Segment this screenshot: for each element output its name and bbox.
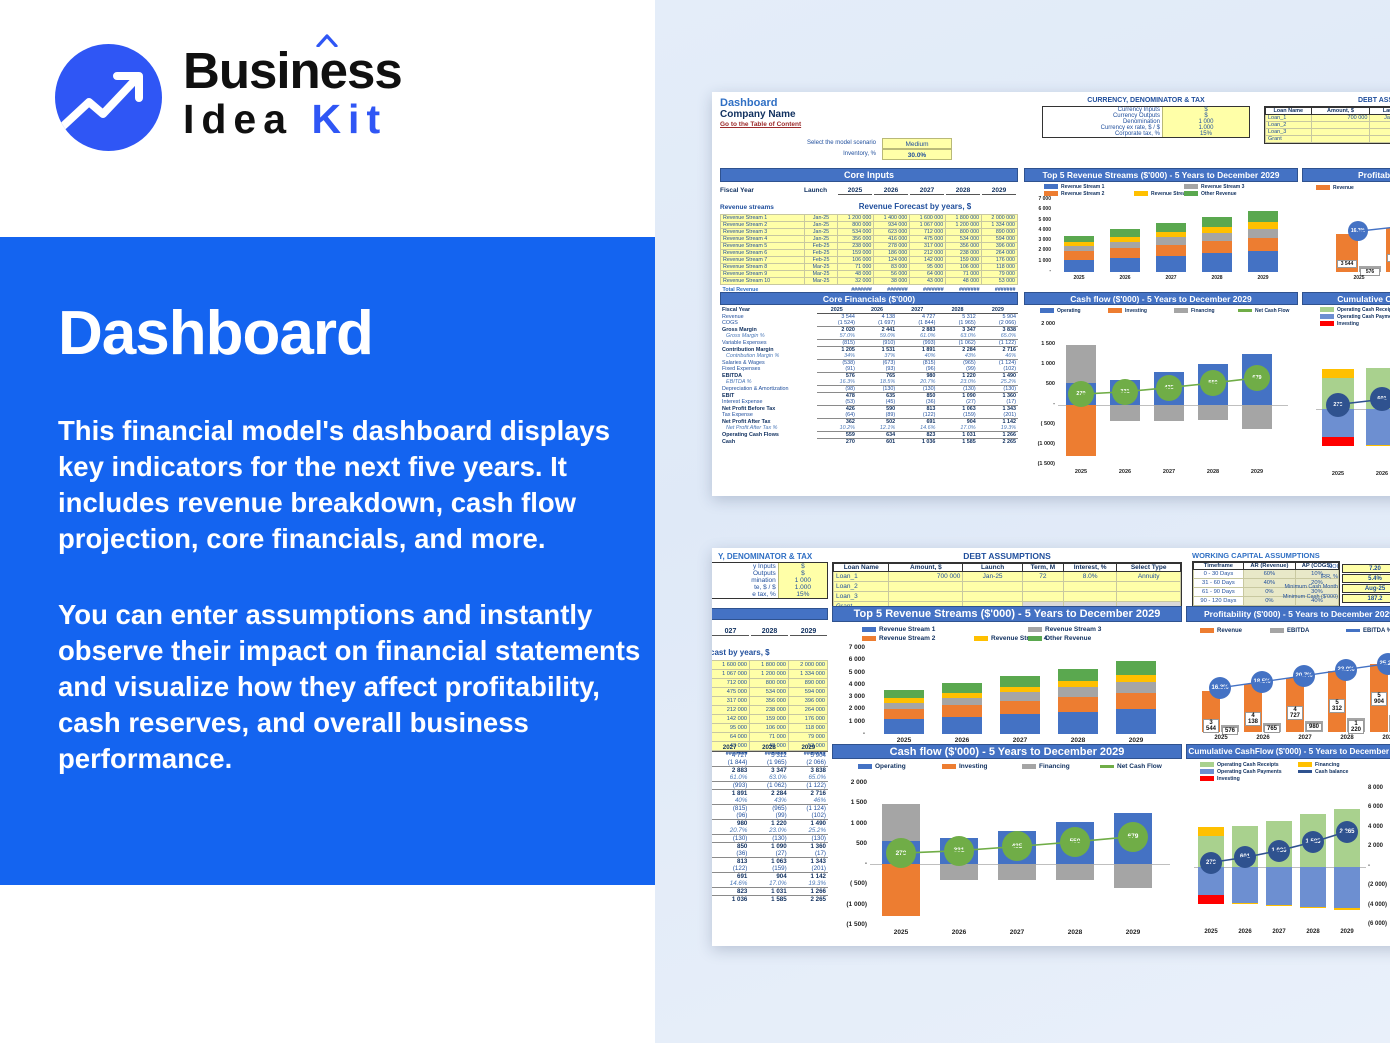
currency-row-value[interactable]: $ bbox=[778, 563, 827, 570]
stream-launch[interactable]: Feb-25 bbox=[804, 250, 838, 257]
bar-segment bbox=[884, 690, 924, 698]
stream-name[interactable]: Revenue Stream 1 bbox=[721, 215, 805, 222]
currency-row[interactable]: mination1 000 bbox=[712, 577, 827, 584]
stream-value[interactable]: 56 000 bbox=[874, 271, 910, 278]
stream-name[interactable]: Revenue Stream 4 bbox=[721, 236, 805, 243]
stream-launch[interactable]: Jan-25 bbox=[804, 222, 838, 229]
bar-operating-payments bbox=[1232, 867, 1258, 903]
x-axis-label: 2026 bbox=[1104, 275, 1146, 281]
stream-value[interactable]: 356 000 bbox=[838, 236, 874, 243]
revenue-stream-row[interactable]: Revenue Stream 8Mar-2571 00083 00095 000… bbox=[721, 264, 1018, 271]
debt-cell[interactable] bbox=[1370, 129, 1390, 136]
stream-value[interactable]: 176 000 bbox=[982, 257, 1018, 264]
debt-cell[interactable] bbox=[1063, 582, 1116, 592]
cf-row-value: 19.3% bbox=[789, 880, 828, 888]
dashboard-screenshot-bottom[interactable]: Y, DENOMINATOR & TAX y Inputs$Outputs$mi… bbox=[712, 548, 1390, 946]
stream-name[interactable]: Revenue Stream 5 bbox=[721, 243, 805, 250]
currency-row[interactable]: Outputs$ bbox=[712, 570, 827, 577]
stream-value[interactable]: 124 000 bbox=[874, 257, 910, 264]
chart-cash-flow-b: OperatingInvestingFinancingNet Cash Flow… bbox=[832, 759, 1182, 944]
stream-value[interactable]: 475 000 bbox=[910, 236, 946, 243]
stream-value[interactable]: 106 000 bbox=[750, 724, 789, 733]
revenue-stream-row-b[interactable]: 95 000106 000118 000 bbox=[712, 724, 828, 733]
bar-segment bbox=[884, 719, 924, 734]
debt-cell[interactable] bbox=[1022, 592, 1063, 602]
stream-value[interactable]: 238 000 bbox=[750, 706, 789, 715]
debt-cell[interactable]: Loan_2 bbox=[834, 582, 889, 592]
stream-value[interactable]: 79 000 bbox=[789, 733, 828, 742]
revenue-stream-row[interactable]: Revenue Stream 1Jan-251 200 0001 400 000… bbox=[721, 215, 1018, 222]
chart-legend-item: Revenue bbox=[1316, 185, 1354, 191]
bar-operating-payments bbox=[1266, 867, 1292, 905]
stream-name[interactable]: Revenue Stream 6 bbox=[721, 250, 805, 257]
stream-value[interactable]: 475 000 bbox=[712, 688, 750, 697]
stream-name[interactable]: Revenue Stream 2 bbox=[721, 222, 805, 229]
cf-row: (122)(159)(201) bbox=[712, 865, 828, 873]
debt-header-cell: Select Type bbox=[1117, 564, 1181, 572]
revenue-stream-row-b[interactable]: 317 000356 000396 000 bbox=[712, 697, 828, 706]
stream-value[interactable]: 53 000 bbox=[982, 278, 1018, 285]
stream-value[interactable]: 1 400 000 bbox=[874, 215, 910, 222]
chart-legend-item: Operating Cash Receipts bbox=[1320, 307, 1390, 313]
stream-value[interactable]: 800 000 bbox=[750, 679, 789, 688]
x-axis-label: 2026 bbox=[1240, 735, 1286, 741]
stream-value[interactable]: 800 000 bbox=[946, 229, 982, 236]
stream-launch[interactable]: Feb-25 bbox=[804, 257, 838, 264]
debt-cell[interactable]: Jan-25 bbox=[1370, 115, 1390, 122]
wc-cell[interactable]: 61 - 90 Days bbox=[1194, 588, 1244, 597]
bar-segment bbox=[1202, 253, 1232, 272]
chart-legend-item: Revenue Stream 3 bbox=[1184, 184, 1244, 190]
currency-row-value[interactable]: $ bbox=[778, 570, 827, 577]
revenue-stream-row[interactable]: Revenue Stream 10Mar-2532 00038 00043 00… bbox=[721, 278, 1018, 285]
currency-rows: Currency Inputs$Currency Outputs$Denomin… bbox=[1043, 107, 1249, 137]
x-axis-label: 2027 bbox=[994, 737, 1046, 744]
debt-cell[interactable]: Loan_3 bbox=[1266, 129, 1312, 136]
cf-row-value: 63.0% bbox=[749, 774, 788, 782]
bubble-ebitda-pct: 16.3% bbox=[1348, 221, 1368, 241]
stream-value[interactable]: 176 000 bbox=[789, 715, 828, 724]
stream-value[interactable]: 159 000 bbox=[838, 250, 874, 257]
legend-swatch bbox=[942, 764, 956, 769]
revenue-stream-row[interactable]: Revenue Stream 5Feb-25238 000278 000317 … bbox=[721, 243, 1018, 250]
stream-value[interactable]: 534 000 bbox=[838, 229, 874, 236]
revenue-stream-row-b[interactable]: 142 000159 000176 000 bbox=[712, 715, 828, 724]
y-axis-tick: 6 000 bbox=[832, 656, 865, 663]
debt-cell[interactable]: Loan_3 bbox=[834, 592, 889, 602]
wc-row[interactable]: 0 - 30 Days60%10% bbox=[1194, 570, 1339, 579]
revenue-stream-row-b[interactable]: 1 600 0001 800 0002 000 000 bbox=[712, 661, 828, 670]
cf-year: 2028 bbox=[749, 744, 788, 752]
inventory-input[interactable]: 30.0% bbox=[882, 149, 952, 160]
fiscal-year-label-inputs: Fiscal Year bbox=[720, 187, 754, 194]
stream-value[interactable]: 1 334 000 bbox=[982, 222, 1018, 229]
chart-title-cumulative-b: Cumulative CashFlow ($'000) - 5 Years to… bbox=[1186, 744, 1390, 759]
stream-value[interactable]: 212 000 bbox=[910, 250, 946, 257]
legend-swatch bbox=[862, 636, 876, 641]
stream-value[interactable]: 2 000 000 bbox=[982, 215, 1018, 222]
stream-value[interactable]: 1 600 000 bbox=[712, 661, 750, 670]
bar-financing bbox=[1056, 864, 1094, 880]
stream-value[interactable]: 1 200 000 bbox=[750, 670, 789, 679]
wc-cell[interactable]: 31 - 60 Days bbox=[1194, 579, 1244, 588]
bar-segment bbox=[1248, 222, 1278, 228]
debt-cell[interactable]: 8.0% bbox=[1063, 572, 1116, 582]
cf-row-value: 1 220 bbox=[749, 820, 788, 828]
stream-value[interactable]: 890 000 bbox=[982, 229, 1018, 236]
debt-cell[interactable] bbox=[1311, 136, 1370, 143]
stream-value[interactable]: 38 000 bbox=[874, 278, 910, 285]
chart-legend-item: Financing bbox=[1298, 762, 1340, 768]
stream-value[interactable]: 534 000 bbox=[750, 688, 789, 697]
x-axis-label: 2027 bbox=[1282, 735, 1328, 741]
stream-name[interactable]: Revenue Stream 10 bbox=[721, 278, 805, 285]
legend-swatch bbox=[1108, 308, 1122, 313]
revenue-stream-row-b[interactable]: 1 067 0001 200 0001 334 000 bbox=[712, 670, 828, 679]
stream-value[interactable]: 934 000 bbox=[874, 222, 910, 229]
stream-value[interactable]: 396 000 bbox=[789, 697, 828, 706]
debt-row[interactable]: Loan_2 bbox=[1266, 122, 1390, 129]
revenue-stream-row-b[interactable]: 212 000238 000264 000 bbox=[712, 706, 828, 715]
stream-value[interactable]: 712 000 bbox=[910, 229, 946, 236]
stream-value[interactable]: 83 000 bbox=[874, 264, 910, 271]
wc-cell[interactable]: 90 - 120 Days bbox=[1194, 597, 1244, 606]
kpi-row: ROI7.20 bbox=[1342, 564, 1390, 574]
debt-cell[interactable] bbox=[1063, 592, 1116, 602]
chart-title-cashflow: Cash flow ($'000) - 5 Years to December … bbox=[1024, 292, 1298, 305]
core-financials-table-b[interactable]: 2027202820294 7275 3125 904(1 844)(1 965… bbox=[712, 744, 828, 903]
currency-row[interactable]: Corporate tax, %15% bbox=[1043, 131, 1249, 137]
stream-value[interactable]: 64 000 bbox=[712, 733, 750, 742]
cf-row: 6919041 142 bbox=[712, 873, 828, 881]
currency-row[interactable]: y Inputs$ bbox=[712, 563, 827, 570]
x-axis-label: 2025 bbox=[878, 737, 930, 744]
legend-swatch bbox=[974, 636, 988, 641]
cf-row-value: 559 bbox=[817, 432, 857, 439]
stream-value[interactable]: 1 067 000 bbox=[910, 222, 946, 229]
debt-cell[interactable]: Loan_2 bbox=[1266, 122, 1312, 129]
bar-segment bbox=[1156, 237, 1186, 244]
chart-legend-item: EBITDA bbox=[1270, 628, 1309, 634]
stream-value[interactable]: 71 000 bbox=[750, 733, 789, 742]
revenue-stream-row[interactable]: Revenue Stream 3Jan-25534 000623 000712 … bbox=[721, 229, 1018, 236]
cf-header-row: 202720282029 bbox=[712, 744, 828, 752]
revenue-stream-row-b[interactable]: 712 000800 000890 000 bbox=[712, 679, 828, 688]
cf-row: (36)(27)(17) bbox=[712, 850, 828, 858]
stream-launch[interactable]: Jan-25 bbox=[804, 229, 838, 236]
chart-legend-item: Other Revenue bbox=[1184, 191, 1237, 197]
cf-row-value: 1 063 bbox=[749, 858, 788, 866]
cf-row-value: 5 312 bbox=[749, 752, 788, 760]
revenue-stream-row[interactable]: Revenue Stream 4Jan-25356 000416 000475 … bbox=[721, 236, 1018, 243]
kpi-value: 5.4% bbox=[1342, 574, 1390, 583]
currency-row-value[interactable]: 1.000 bbox=[778, 584, 827, 591]
stream-value[interactable]: 106 000 bbox=[838, 257, 874, 264]
currency-row-value[interactable]: 15% bbox=[778, 591, 827, 598]
stream-value[interactable]: 159 000 bbox=[750, 715, 789, 724]
stream-value[interactable]: 71 000 bbox=[838, 264, 874, 271]
debt-cell[interactable] bbox=[889, 592, 963, 602]
stream-value[interactable]: 142 000 bbox=[910, 257, 946, 264]
debt-cell[interactable]: Annuity bbox=[1117, 572, 1181, 582]
stream-value[interactable]: 212 000 bbox=[712, 706, 750, 715]
stream-value[interactable]: 2 000 000 bbox=[789, 661, 828, 670]
cf-row-value: 823 bbox=[712, 888, 749, 896]
debt-cell[interactable] bbox=[1117, 582, 1181, 592]
stream-launch[interactable]: Feb-25 bbox=[804, 243, 838, 250]
debt-block-title-b: DEBT ASSUMPTIONS bbox=[832, 551, 1182, 561]
currency-row[interactable]: e tax, %15% bbox=[712, 591, 827, 598]
stream-value[interactable]: 594 000 bbox=[982, 236, 1018, 243]
debt-header-cell: Amount, $ bbox=[1311, 108, 1370, 115]
cf-row-value: (130) bbox=[978, 386, 1018, 393]
stream-value[interactable]: 534 000 bbox=[946, 236, 982, 243]
stream-value[interactable]: 1 600 000 bbox=[910, 215, 946, 222]
revenue-stream-row[interactable]: Revenue Stream 2Jan-25800 000934 0001 06… bbox=[721, 222, 1018, 229]
stream-value[interactable]: 238 000 bbox=[946, 250, 982, 257]
debt-cell[interactable] bbox=[1311, 122, 1370, 129]
stream-value[interactable]: 594 000 bbox=[789, 688, 828, 697]
stream-value[interactable]: 1 800 000 bbox=[946, 215, 982, 222]
cf-row-value: (993) bbox=[712, 782, 749, 790]
stream-value[interactable]: 118 000 bbox=[789, 724, 828, 733]
debt-cell[interactable] bbox=[963, 592, 1023, 602]
y-axis-tick: 500 bbox=[1024, 381, 1055, 387]
bubble-cash-balance: 2 265 bbox=[1336, 821, 1358, 843]
currency-row-value[interactable]: 15% bbox=[1162, 131, 1249, 137]
debt-cell[interactable] bbox=[889, 582, 963, 592]
chart-legend-item: Cash balance bbox=[1298, 769, 1348, 775]
stream-value[interactable]: 712 000 bbox=[712, 679, 750, 688]
stream-value[interactable]: 264 000 bbox=[789, 706, 828, 715]
stream-value[interactable]: 416 000 bbox=[874, 236, 910, 243]
cf-row-value: (965) bbox=[749, 805, 788, 813]
legend-label: Investing bbox=[1217, 776, 1240, 782]
stream-value[interactable]: 1 334 000 bbox=[789, 670, 828, 679]
stream-value[interactable]: 106 000 bbox=[946, 264, 982, 271]
debt-cell[interactable]: 700 000 bbox=[1311, 115, 1370, 122]
stream-value[interactable]: 32 000 bbox=[838, 278, 874, 285]
debt-row[interactable]: Grant bbox=[1266, 136, 1390, 143]
stream-value[interactable]: 71 000 bbox=[946, 271, 982, 278]
stream-value[interactable]: 1 200 000 bbox=[946, 222, 982, 229]
debt-cell[interactable] bbox=[1370, 136, 1390, 143]
currency-table[interactable]: Currency Inputs$Currency Outputs$Denomin… bbox=[1042, 106, 1250, 138]
legend-label: Financing bbox=[1039, 763, 1070, 770]
stream-value[interactable]: 264 000 bbox=[982, 250, 1018, 257]
y-axis-tick: (1 000) bbox=[1024, 441, 1055, 447]
stream-value[interactable]: 278 000 bbox=[874, 243, 910, 250]
stream-value[interactable]: 317 000 bbox=[910, 243, 946, 250]
stream-launch[interactable]: Mar-25 bbox=[804, 264, 838, 271]
wc-cell[interactable]: 0 - 30 Days bbox=[1194, 570, 1244, 579]
cf-row-value: 270 bbox=[817, 439, 857, 446]
revenue-forecast-table[interactable]: Revenue Stream 1Jan-251 200 0001 400 000… bbox=[720, 214, 1018, 293]
stream-value[interactable]: 186 000 bbox=[874, 250, 910, 257]
cf-row-value: (99) bbox=[749, 812, 788, 820]
stream-value[interactable]: 1 800 000 bbox=[750, 661, 789, 670]
scenario-select[interactable]: Medium bbox=[882, 138, 952, 149]
stream-value[interactable]: 43 000 bbox=[910, 278, 946, 285]
bar-segment bbox=[942, 698, 982, 706]
debt-header-cell: Loan Name bbox=[834, 564, 889, 572]
cf-row-value: 3 838 bbox=[789, 767, 828, 775]
stream-launch[interactable]: Mar-25 bbox=[804, 271, 838, 278]
chart-legend-item: Revenue Stream 3 bbox=[1028, 626, 1101, 633]
chart-legend-item: Investing bbox=[942, 763, 988, 770]
stream-value[interactable]: 118 000 bbox=[982, 264, 1018, 271]
chart-top5-revenue-b: Revenue Stream 1Revenue Stream 2Revenue … bbox=[832, 622, 1182, 752]
stream-name[interactable]: Revenue Stream 8 bbox=[721, 264, 805, 271]
data-label-revenue: 4 727 bbox=[1287, 706, 1303, 720]
cf-row-value: (130) bbox=[749, 835, 788, 843]
debt-cell[interactable] bbox=[1370, 122, 1390, 129]
chart-legend-item: Net Cash Flow bbox=[1238, 308, 1289, 314]
cf-row-value: (17) bbox=[789, 850, 828, 858]
wc-cell[interactable]: 60% bbox=[1243, 570, 1295, 579]
debt-cell[interactable]: Jan-25 bbox=[963, 572, 1023, 582]
core-financials-table[interactable]: Fiscal Year20252026202720282029Revenue3 … bbox=[720, 307, 1018, 445]
brand-line-1: Business bbox=[183, 44, 402, 98]
stream-value[interactable]: 95 000 bbox=[910, 264, 946, 271]
debt-row[interactable]: Loan_2 bbox=[834, 582, 1181, 592]
stream-value[interactable]: 95 000 bbox=[712, 724, 750, 733]
bar-segment bbox=[942, 705, 982, 716]
chart-legend-item: Revenue Stream 2 bbox=[1044, 191, 1104, 197]
bar-financing-neg bbox=[1300, 907, 1326, 908]
cf-row-value: 904 bbox=[749, 873, 788, 881]
stream-value[interactable]: 1 067 000 bbox=[712, 670, 750, 679]
hero-paragraph-2: You can enter assumptions and instantly … bbox=[58, 597, 658, 777]
y-axis-tick: 6 000 bbox=[1368, 804, 1390, 810]
cf-row-value: (122) bbox=[712, 865, 749, 873]
revenue-forecast-table-b[interactable]: 1 600 0001 800 0002 000 0001 067 0001 20… bbox=[712, 660, 828, 757]
revenue-stream-row[interactable]: Revenue Stream 7Feb-25106 000124 000142 … bbox=[721, 257, 1018, 264]
y-axis-tick: - bbox=[1368, 863, 1390, 869]
debt-row[interactable]: Loan_1700 000Jan-25728.0%Annuity bbox=[834, 572, 1181, 582]
y-axis-tick: 3 000 bbox=[832, 693, 865, 700]
revenue-stream-row-b[interactable]: 64 00071 00079 000 bbox=[712, 733, 828, 742]
legend-swatch bbox=[862, 627, 876, 632]
stream-name[interactable]: Revenue Stream 7 bbox=[721, 257, 805, 264]
revenue-stream-row[interactable]: Revenue Stream 6Feb-25159 000186 000212 … bbox=[721, 250, 1018, 257]
kpi-block: ROI7.20IRR, %5.4%Minimum Cash MonthAug-2… bbox=[1342, 564, 1390, 604]
legend-swatch bbox=[1320, 307, 1334, 312]
debt-cell[interactable] bbox=[1117, 592, 1181, 602]
currency-row-value[interactable]: 1 000 bbox=[778, 577, 827, 584]
stream-launch[interactable]: Mar-25 bbox=[804, 278, 838, 285]
legend-swatch bbox=[1028, 627, 1042, 632]
cf-row-value: 1 142 bbox=[789, 873, 828, 881]
stream-value[interactable]: 1 200 000 bbox=[838, 215, 874, 222]
stream-value[interactable]: 142 000 bbox=[712, 715, 750, 724]
chart-legend-item: Operating bbox=[1040, 308, 1081, 314]
dashboard-screenshot-top[interactable]: Dashboard Company Name Go to the Table o… bbox=[712, 92, 1390, 496]
debt-cell[interactable]: Loan_1 bbox=[1266, 115, 1312, 122]
revenue-stream-row-b[interactable]: 475 000534 000594 000 bbox=[712, 688, 828, 697]
debt-row[interactable]: Loan_3 bbox=[834, 592, 1181, 602]
page-title: Dashboard bbox=[58, 298, 648, 369]
table-of-content-link[interactable]: Go to the Table of Content bbox=[720, 121, 801, 128]
currency-row[interactable]: te, $ / $1.000 bbox=[712, 584, 827, 591]
y-axis-tick: 2 000 bbox=[1024, 321, 1055, 327]
cf-row-value: 1 036 bbox=[712, 896, 749, 904]
cf-row-value: 823 bbox=[897, 432, 937, 439]
stream-launch[interactable]: Jan-25 bbox=[804, 215, 838, 222]
debt-row[interactable]: Loan_1700 000Jan-25728.0%Annuity bbox=[1266, 115, 1390, 122]
y-axis-tick: (1 500) bbox=[832, 921, 867, 928]
currency-row-label: Corporate tax, % bbox=[1043, 131, 1162, 137]
stream-value[interactable]: 396 000 bbox=[982, 243, 1018, 250]
legend-label: Revenue Stream 2 bbox=[879, 635, 935, 642]
data-label-revenue: 3 544 bbox=[1203, 719, 1219, 733]
y-axis-tick: 2 000 bbox=[1368, 843, 1390, 849]
bar-investing bbox=[1198, 895, 1224, 904]
stream-value[interactable]: 623 000 bbox=[874, 229, 910, 236]
stream-value[interactable]: 48 000 bbox=[946, 278, 982, 285]
core-inputs-year: 2026 bbox=[874, 187, 908, 195]
stream-value[interactable]: 317 000 bbox=[712, 697, 750, 706]
bar-segment bbox=[1000, 714, 1040, 734]
stream-value[interactable]: 238 000 bbox=[838, 243, 874, 250]
bar-segment bbox=[1202, 227, 1232, 232]
stream-value[interactable]: 64 000 bbox=[910, 271, 946, 278]
debt-cell[interactable]: Grant bbox=[1266, 136, 1312, 143]
cf-row: 4 7275 3125 904 bbox=[712, 752, 828, 760]
stream-name[interactable]: Revenue Stream 3 bbox=[721, 229, 805, 236]
x-axis-label: 2029 bbox=[1366, 735, 1390, 741]
currency-table-cropped[interactable]: y Inputs$Outputs$mination1 000te, $ / $1… bbox=[712, 562, 828, 599]
debt-cell[interactable]: 72 bbox=[1022, 572, 1063, 582]
stream-value[interactable]: 356 000 bbox=[946, 243, 982, 250]
x-axis-label: 2025 bbox=[1058, 275, 1100, 281]
cf-row-value: 691 bbox=[712, 873, 749, 881]
kpi-row: Minimum Cash ($'000)187.2 bbox=[1342, 594, 1390, 604]
legend-swatch bbox=[1238, 309, 1252, 312]
y-axis-tick: 1 500 bbox=[1024, 341, 1055, 347]
y-axis-tick: ( 500) bbox=[832, 880, 867, 887]
kpi-value: 7.20 bbox=[1342, 564, 1390, 573]
stream-name[interactable]: Revenue Stream 9 bbox=[721, 271, 805, 278]
debt-cell[interactable] bbox=[963, 582, 1023, 592]
cf-row: 1 8912 2842 716 bbox=[712, 790, 828, 798]
y-axis-tick: 7 000 bbox=[832, 644, 865, 651]
x-axis-label: 2028 bbox=[1196, 275, 1238, 281]
stream-value[interactable]: 356 000 bbox=[750, 697, 789, 706]
bar-segment bbox=[1116, 693, 1156, 709]
bar-segment bbox=[1202, 241, 1232, 253]
stream-value[interactable]: 159 000 bbox=[946, 257, 982, 264]
debt-cell[interactable] bbox=[1311, 129, 1370, 136]
cf-row-value: 1 266 bbox=[978, 432, 1018, 439]
debt-cell[interactable]: 700 000 bbox=[889, 572, 963, 582]
stream-value[interactable]: 800 000 bbox=[838, 222, 874, 229]
debt-cell[interactable] bbox=[1022, 582, 1063, 592]
legend-swatch bbox=[1320, 321, 1334, 326]
stream-value[interactable]: 890 000 bbox=[789, 679, 828, 688]
revenue-stream-row[interactable]: Revenue Stream 9Mar-2548 00056 00064 000… bbox=[721, 271, 1018, 278]
debt-table[interactable]: Loan NameAmount, $LaunchTerm, MInterest,… bbox=[1264, 106, 1390, 144]
debt-row[interactable]: Loan_3 bbox=[1266, 129, 1390, 136]
y-axis-tick: 1 000 bbox=[1024, 258, 1051, 264]
legend-label: EBITDA % bbox=[1363, 628, 1390, 634]
stream-value[interactable]: 48 000 bbox=[838, 271, 874, 278]
legend-label: Revenue Stream 2 bbox=[1061, 191, 1104, 197]
stream-value[interactable]: 79 000 bbox=[982, 271, 1018, 278]
stream-launch[interactable]: Jan-25 bbox=[804, 236, 838, 243]
bubble-net-cash-flow: 270 bbox=[1068, 381, 1094, 407]
debt-cell[interactable]: Loan_1 bbox=[834, 572, 889, 582]
